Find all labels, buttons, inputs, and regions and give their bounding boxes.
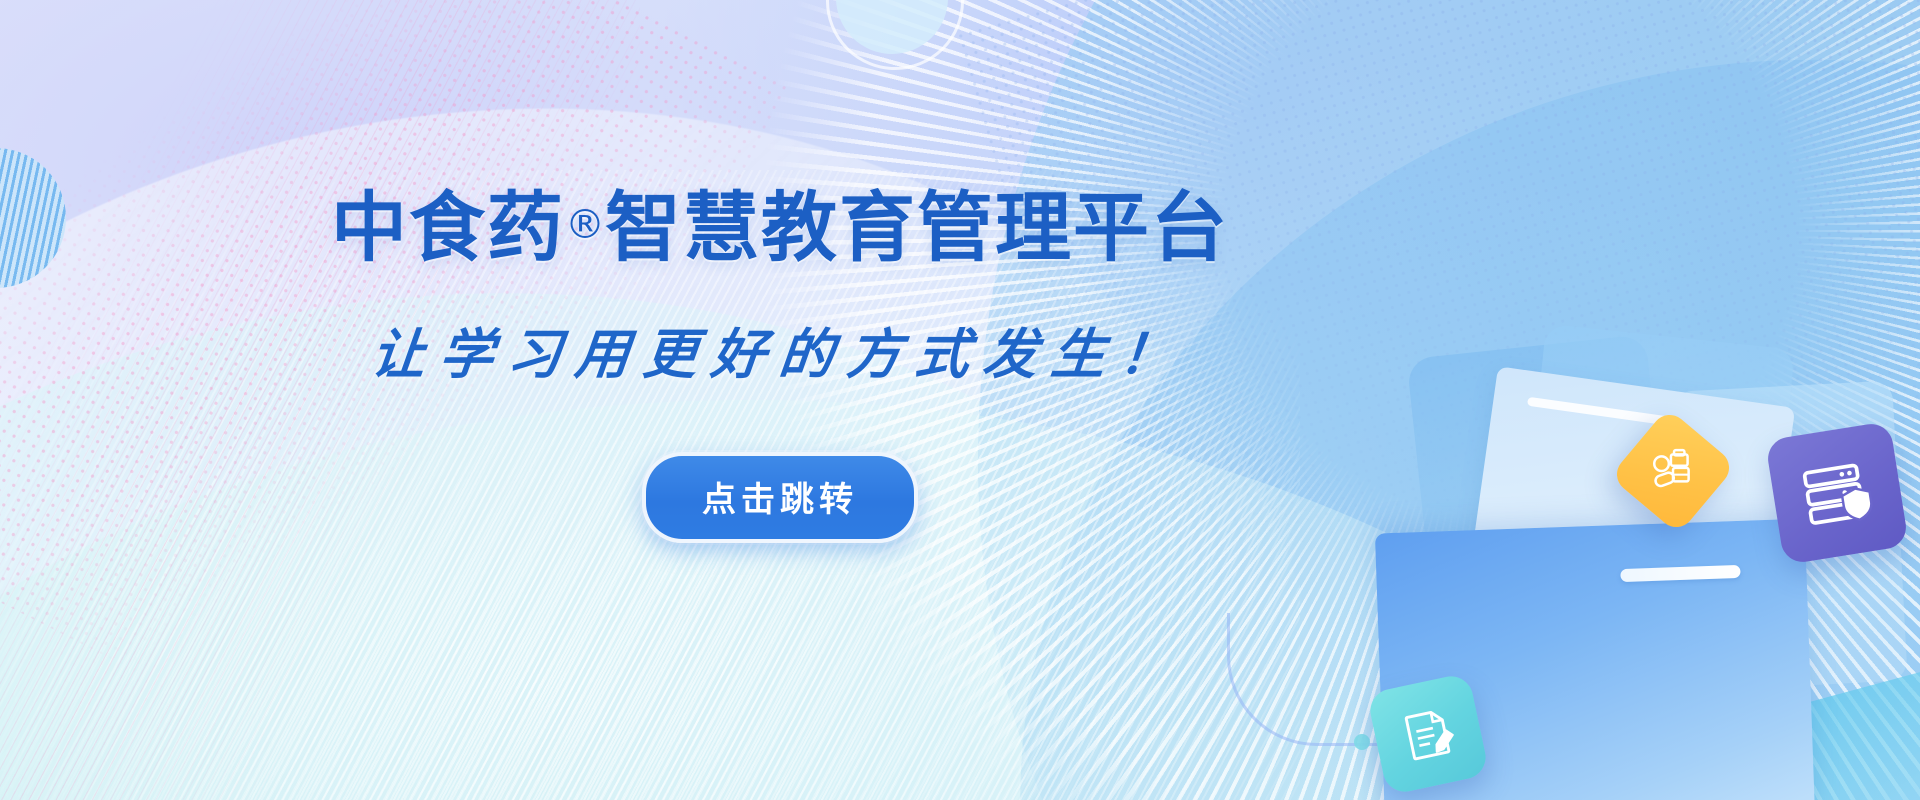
cta-container: 点击跳转 [0, 452, 1560, 543]
registered-trademark-icon: ® [565, 202, 605, 248]
hero-banner: 中食药®智慧教育管理平台 让学习用更好的方式发生！ 点击跳转 [0, 0, 1920, 800]
page-title: 中食药®智慧教育管理平台 [0, 166, 1560, 276]
page-subtitle: 让学习用更好的方式发生！ [0, 310, 1564, 389]
jump-button[interactable]: 点击跳转 [642, 452, 918, 543]
page-title-main: 中食药 [331, 183, 565, 272]
hero-content: 中食药®智慧教育管理平台 让学习用更好的方式发生！ 点击跳转 [0, 0, 1920, 800]
page-title-rest: 智慧教育管理平台 [605, 183, 1229, 272]
